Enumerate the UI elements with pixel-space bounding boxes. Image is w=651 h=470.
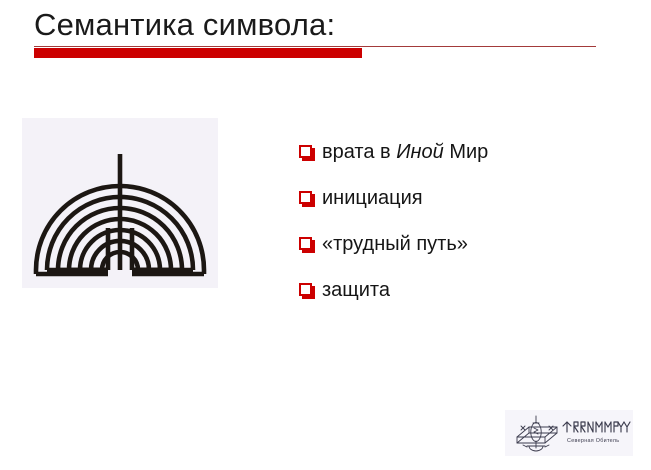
list-item: «трудный путь» [298, 232, 628, 278]
list-item-text-prefix: защита [322, 279, 390, 301]
title-rule-thick [34, 48, 362, 58]
bullet-list: врата в Иной Мир инициация «трудный путь… [298, 140, 628, 324]
list-item-label: защита [320, 278, 390, 302]
title-rule-thin [34, 46, 596, 47]
logo-mark-icon: Северная Обитель [505, 410, 633, 456]
list-item-label: врата в Иной Мир [320, 140, 488, 164]
list-item-text-emphasis: Иной [396, 141, 444, 163]
hollow-square-bullet-icon [298, 282, 320, 306]
list-item-text-prefix: инициация [322, 187, 423, 209]
list-item-text-suffix: Мир [444, 141, 489, 163]
list-item: инициация [298, 186, 628, 232]
list-item-label: инициация [320, 186, 423, 210]
list-item-text-prefix: «трудный путь» [322, 233, 468, 255]
slide-canvas: Семантика символа: [0, 0, 651, 470]
labyrinth-image [22, 118, 218, 288]
list-item: защита [298, 278, 628, 324]
page-title: Семантика символа: [34, 6, 335, 44]
labyrinth-icon [22, 118, 218, 288]
hollow-square-bullet-icon [298, 144, 320, 168]
list-item-label: «трудный путь» [320, 232, 468, 256]
hollow-square-bullet-icon [298, 236, 320, 260]
severnaya-obitel-logo: Северная Обитель [505, 410, 633, 456]
list-item: врата в Иной Мир [298, 140, 628, 186]
hollow-square-bullet-icon [298, 190, 320, 214]
list-item-text-prefix: врата в [322, 141, 396, 163]
logo-caption: Северная Обитель [567, 438, 619, 444]
runic-wordmark-icon [563, 422, 630, 432]
